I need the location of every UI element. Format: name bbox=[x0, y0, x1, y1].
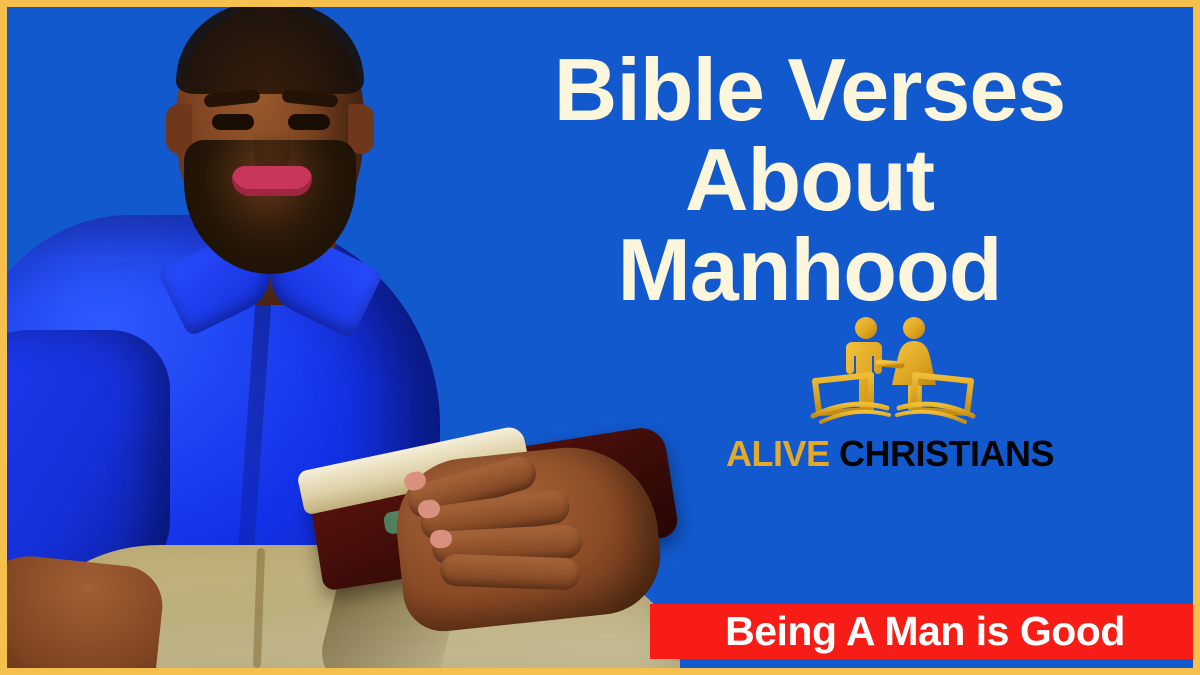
bible-cover bbox=[307, 424, 680, 591]
presenter-eyebrow-right bbox=[281, 89, 338, 108]
presenter-collar-left bbox=[157, 225, 284, 338]
presenter-sleeve bbox=[0, 330, 170, 590]
presenter-shirt-placket bbox=[235, 300, 272, 600]
wordmark-christians: CHRISTIANS bbox=[839, 433, 1054, 474]
video-thumbnail: Bible Verses About Manhood bbox=[0, 0, 1200, 675]
presenter-finger bbox=[418, 488, 571, 543]
presenter-fingernail bbox=[430, 529, 453, 548]
presenter-forearm bbox=[0, 550, 166, 675]
bible-pages bbox=[296, 425, 530, 516]
presenter-beard bbox=[184, 140, 356, 274]
presenter-trouser-shadow bbox=[314, 536, 467, 675]
presenter-trousers bbox=[40, 545, 680, 675]
presenter-eye-left bbox=[212, 114, 254, 130]
presenter-mouth bbox=[232, 166, 312, 196]
wordmark-alive: ALIVE bbox=[726, 433, 839, 474]
subtitle-banner: Being A Man is Good bbox=[650, 604, 1200, 659]
presenter-fingernail bbox=[402, 469, 428, 492]
presenter-neck bbox=[225, 195, 335, 305]
brand-logo: ALIVE CHRISTIANS bbox=[725, 315, 1055, 480]
brand-wordmark: ALIVE CHRISTIANS bbox=[725, 433, 1055, 475]
presenter-hair bbox=[176, 2, 364, 94]
presenter-hand bbox=[390, 439, 666, 635]
bible-book bbox=[303, 403, 680, 598]
presenter-eye-right bbox=[288, 114, 330, 130]
presenter-ear-right bbox=[348, 104, 374, 154]
page-title: Bible Verses About Manhood bbox=[427, 45, 1192, 314]
presenter-nose bbox=[254, 132, 290, 174]
presenter-shirt bbox=[0, 215, 440, 635]
alive-christians-logo-mark bbox=[809, 315, 977, 427]
presenter-head bbox=[176, 6, 364, 258]
presenter-teeth bbox=[238, 168, 306, 182]
bible-page-edge bbox=[383, 490, 535, 535]
presenter-ear-left bbox=[166, 104, 192, 154]
presenter-eyebrow-left bbox=[203, 89, 260, 108]
presenter-finger bbox=[439, 554, 580, 591]
subtitle-banner-text: Being A Man is Good bbox=[725, 611, 1125, 652]
presenter-trouser-fold bbox=[253, 548, 265, 668]
presenter-finger bbox=[431, 524, 583, 566]
presenter-fingernail bbox=[417, 499, 441, 520]
presenter-finger bbox=[404, 452, 540, 521]
presenter-collar-right bbox=[257, 227, 384, 340]
